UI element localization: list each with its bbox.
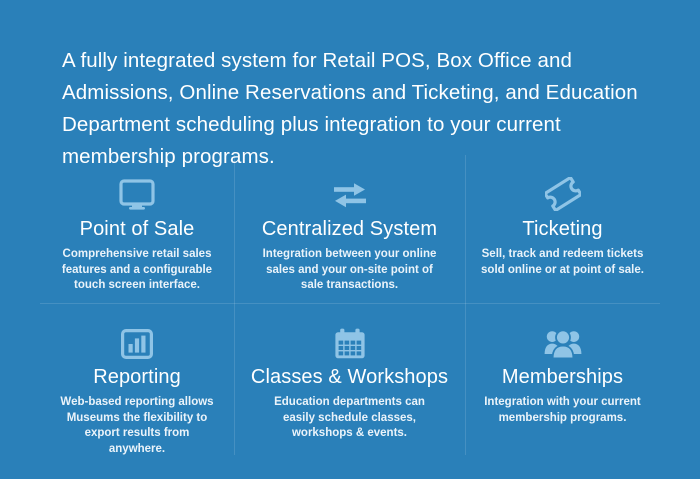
feature-grid: Point of Sale Comprehensive retail sales… — [40, 155, 660, 455]
feature-title: Centralized System — [234, 216, 465, 242]
exchange-arrows-icon — [234, 171, 465, 211]
feature-card-reporting[interactable]: Reporting Web-based reporting allows Mus… — [40, 303, 234, 452]
people-group-icon — [465, 319, 660, 359]
feature-description: Sell, track and redeem tickets sold onli… — [480, 247, 646, 278]
feature-row-bottom: Reporting Web-based reporting allows Mus… — [40, 303, 660, 452]
ticket-icon — [465, 171, 660, 211]
intro-paragraph: A fully integrated system for Retail POS… — [62, 45, 642, 173]
calendar-icon — [234, 319, 465, 359]
feature-title: Classes & Workshops — [234, 364, 465, 390]
feature-card-ticketing[interactable]: Ticketing Sell, track and redeem tickets… — [465, 155, 660, 303]
feature-description: Web-based reporting allows Museums the f… — [57, 395, 217, 457]
feature-card-point-of-sale[interactable]: Point of Sale Comprehensive retail sales… — [40, 155, 234, 303]
feature-row-top: Point of Sale Comprehensive retail sales… — [40, 155, 660, 303]
feature-description: Education departments can easily schedul… — [262, 395, 438, 442]
feature-description: Integration with your current membership… — [480, 395, 646, 426]
feature-card-classes-workshops[interactable]: Classes & Workshops Education department… — [234, 303, 465, 452]
feature-title: Reporting — [40, 364, 234, 390]
feature-description: Comprehensive retail sales features and … — [57, 247, 217, 294]
feature-card-memberships[interactable]: Memberships Integration with your curren… — [465, 303, 660, 452]
monitor-icon — [40, 171, 234, 211]
bar-chart-icon — [40, 319, 234, 359]
feature-title: Memberships — [465, 364, 660, 390]
feature-card-centralized-system[interactable]: Centralized System Integration between y… — [234, 155, 465, 303]
feature-title: Ticketing — [465, 216, 660, 242]
feature-description: Integration between your online sales an… — [262, 247, 438, 294]
feature-title: Point of Sale — [40, 216, 234, 242]
feature-overview-panel: A fully integrated system for Retail POS… — [0, 0, 700, 479]
